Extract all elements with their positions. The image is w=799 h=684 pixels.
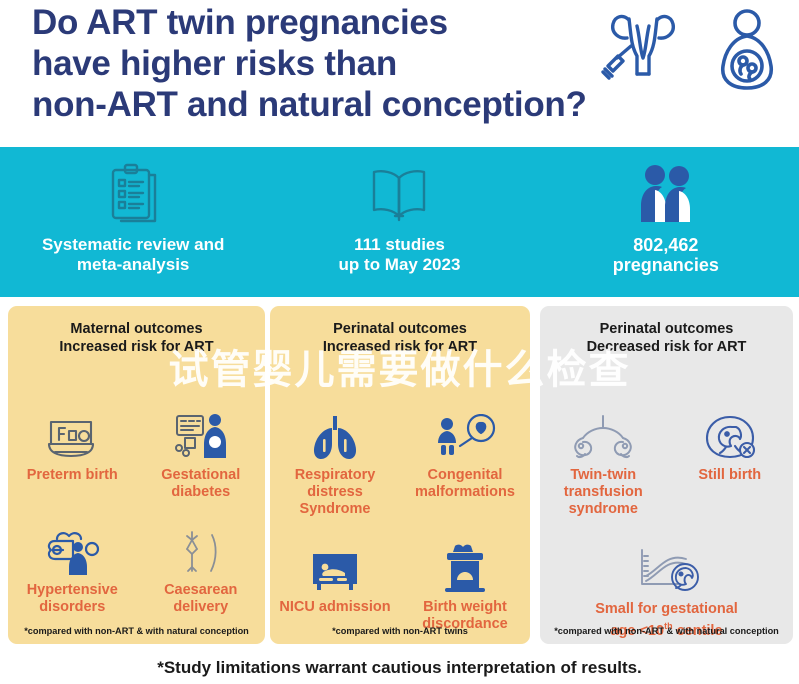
clipboard-checklist-icon — [105, 163, 161, 225]
outcome-item-congenital-malformations: Congenital malformations — [400, 410, 530, 518]
baby-weighing-scale-icon — [439, 542, 491, 592]
stillbirth-fetus-cross-icon — [702, 410, 758, 460]
baby-heart-magnifier-icon — [434, 410, 496, 460]
header: Do ART twin pregnancies have higher risk… — [0, 0, 799, 145]
open-book-icon — [369, 163, 429, 225]
outcome-caption: Respiratory distress Syndrome — [274, 467, 396, 518]
outcome-item-still-birth: Still birth — [667, 410, 794, 518]
outcome-item-respiratory-distress: Respiratory distress Syndrome — [270, 410, 400, 518]
outcome-caption: NICU admission — [279, 599, 390, 616]
outcome-panels: Maternal outcomes Increased risk for ART — [0, 306, 799, 644]
stat-label: Systematic review and meta-analysis — [42, 235, 224, 275]
blood-pressure-cuff-icon — [43, 525, 101, 575]
outcome-item-caesarean-delivery: Caesarean delivery — [137, 525, 266, 616]
lungs-icon — [308, 410, 362, 460]
panel-perinatal-decreased: Perinatal outcomes Decreased risk for AR… — [540, 306, 793, 644]
stat-systematic-review: Systematic review and meta-analysis — [0, 147, 266, 297]
panel-item-grid: Respiratory distress Syndrome — [270, 410, 530, 633]
title-line-2: have higher risks than — [32, 43, 592, 84]
outcome-caption: Still birth — [698, 467, 761, 484]
panel-item-grid: Twin-twin transfusion syndrome — [540, 410, 793, 640]
footer-disclaimer: *Study limitations warrant cautious inte… — [0, 652, 799, 684]
outcome-item-gestational-diabetes: Gestational diabetes — [137, 410, 266, 501]
outcome-caption: Congenital malformations — [415, 467, 515, 501]
outcome-caption: Preterm birth — [27, 467, 118, 484]
infographic-page: Do ART twin pregnancies have higher risk… — [0, 0, 799, 684]
outcome-item-preterm-birth: Preterm birth — [8, 410, 137, 501]
glucose-monitor-pregnant-icon — [173, 410, 229, 460]
outcome-caption: Caesarean delivery — [164, 582, 237, 616]
outcome-item-twin-twin-transfusion: Twin-twin transfusion syndrome — [540, 410, 667, 518]
nicu-incubator-icon — [307, 542, 363, 592]
panel-title: Perinatal outcomes Decreased risk for AR… — [548, 320, 785, 356]
stat-label: 111 studies up to May 2023 — [339, 235, 461, 275]
outcome-item-birth-weight-discordance: Birth weight discordance — [400, 542, 530, 633]
panel-title: Maternal outcomes Increased risk for ART — [16, 320, 257, 356]
surgical-scissors-icon — [178, 525, 224, 575]
panel-perinatal-increased: Perinatal outcomes Increased risk for AR… — [270, 306, 530, 644]
panel-item-grid: Preterm birth — [8, 410, 265, 616]
panel-footnote: *compared with non-ART twins — [270, 626, 530, 636]
header-icon-group — [595, 6, 785, 102]
outcome-caption: Hypertensive disorders — [27, 582, 118, 616]
page-title: Do ART twin pregnancies have higher risk… — [32, 2, 592, 125]
panel-footnote: *compared with non-ART & with natural co… — [540, 626, 793, 636]
panel-title: Perinatal outcomes Increased risk for AR… — [278, 320, 522, 356]
stat-studies: 111 studies up to May 2023 — [266, 147, 532, 297]
outcome-caption: Twin-twin transfusion syndrome — [564, 467, 643, 518]
outcome-item-nicu-admission: NICU admission — [270, 542, 400, 633]
growth-chart-fetus-icon — [628, 544, 706, 594]
uterus-syringe-icon — [595, 6, 691, 95]
incubator-crib-icon — [45, 410, 99, 460]
stat-pregnancies: 802,462 pregnancies — [533, 147, 799, 297]
pregnant-woman-twins-icon — [713, 8, 781, 99]
panel-maternal-outcomes: Maternal outcomes Increased risk for ART — [8, 306, 265, 644]
title-line-1: Do ART twin pregnancies — [32, 2, 592, 43]
stat-label: 802,462 pregnancies — [613, 235, 719, 275]
twin-fetuses-placenta-icon — [567, 410, 639, 460]
outcome-item-hypertensive-disorders: Hypertensive disorders — [8, 525, 137, 616]
outcome-caption: Gestational diabetes — [161, 467, 240, 501]
stats-band: Systematic review and meta-analysis 111 … — [0, 147, 799, 297]
panel-footnote: *compared with non-ART & with natural co… — [8, 626, 265, 636]
two-pregnant-people-icon — [635, 163, 697, 225]
title-line-3: non-ART and natural conception? — [32, 84, 592, 125]
